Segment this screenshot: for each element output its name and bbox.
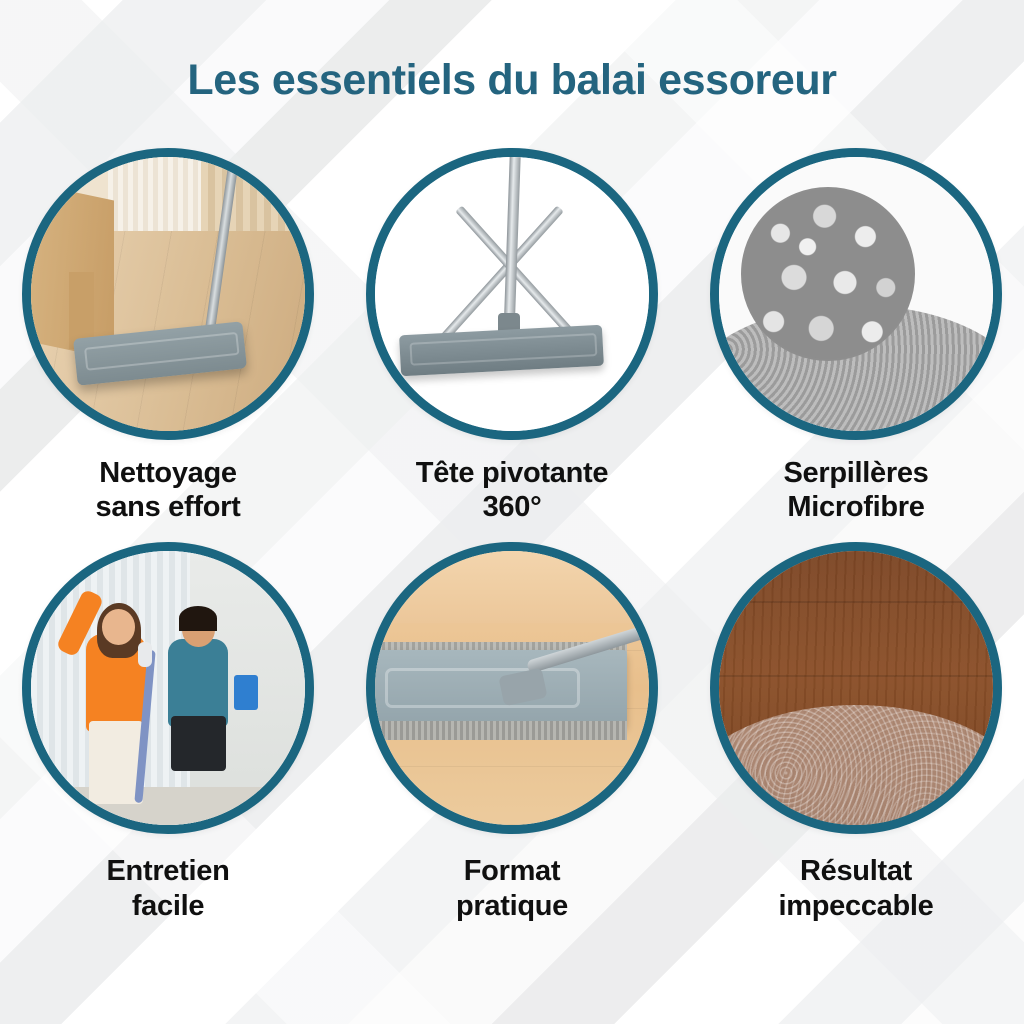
feature-caption-line2: Microfibre — [783, 490, 928, 524]
feature-caption: Serpillères Microfibre — [783, 456, 928, 524]
feature-row-bottom: Entretien facile Format — [0, 542, 1024, 922]
feature-caption-line1: Tête pivotante — [416, 456, 608, 490]
photo-flat-mop-on-oak-floor — [31, 157, 305, 431]
feature-caption-line1: Entretien — [107, 854, 230, 888]
feature-card-resultat-impeccable[interactable]: Résultat impeccable — [696, 542, 1016, 922]
feature-caption-line2: impeccable — [779, 889, 934, 923]
feature-card-tete-pivotante-360[interactable]: Tête pivotante 360° — [352, 148, 672, 524]
feature-image-circle — [22, 148, 314, 440]
feature-card-serpilleres-microfibre[interactable]: Serpillères Microfibre — [696, 148, 1016, 524]
infographic-page: Les essentiels du balai essoreur — [0, 0, 1024, 1024]
feature-caption-line1: Nettoyage — [96, 456, 241, 490]
feature-caption-line2: sans effort — [96, 490, 241, 524]
feature-image-circle — [22, 542, 314, 834]
feature-image-circle — [366, 542, 658, 834]
feature-card-nettoyage-sans-effort[interactable]: Nettoyage sans effort — [8, 148, 328, 524]
feature-caption: Résultat impeccable — [779, 854, 934, 922]
feature-caption-line2: pratique — [456, 889, 568, 923]
man-hair — [179, 606, 217, 631]
mop-pad — [399, 324, 604, 376]
feature-caption: Tête pivotante 360° — [416, 456, 608, 524]
room-floor — [31, 787, 305, 825]
photo-mop-head-top-view — [375, 551, 649, 825]
feature-caption: Format pratique — [456, 854, 568, 922]
feature-caption-line1: Serpillères — [783, 456, 928, 490]
man-torso-teal-shirt — [168, 639, 228, 727]
woman-head — [102, 609, 135, 645]
man-shorts — [171, 716, 226, 771]
feature-caption-line1: Résultat — [779, 854, 934, 888]
feature-image-circle — [710, 542, 1002, 834]
feature-card-entretien-facile[interactable]: Entretien facile — [8, 542, 328, 922]
maple-floor-upper-band — [375, 551, 649, 622]
spray-bottle — [234, 675, 259, 711]
dusty-floor-area — [719, 705, 993, 826]
mop-handle-center — [503, 157, 521, 332]
mop-pad-bottom-fringe — [375, 721, 627, 740]
photo-pivoting-mop-head — [375, 157, 649, 431]
photo-happy-couple-cleaning — [31, 551, 305, 825]
feature-card-format-pratique[interactable]: Format pratique — [352, 542, 672, 922]
feature-caption-line1: Format — [456, 854, 568, 888]
feature-image-circle — [366, 148, 658, 440]
feature-row-top: Nettoyage sans effort Tête pivotante — [0, 148, 1024, 524]
feature-grid: Nettoyage sans effort Tête pivotante — [0, 148, 1024, 923]
mop-grip — [138, 642, 152, 667]
photo-microfibre-macro — [719, 157, 993, 431]
microfibre-zoom-inset — [741, 187, 915, 361]
feature-caption-line2: facile — [107, 889, 230, 923]
feature-caption: Nettoyage sans effort — [96, 456, 241, 524]
page-title: Les essentiels du balai essoreur — [0, 56, 1024, 105]
feature-caption: Entretien facile — [107, 854, 230, 922]
feature-image-circle — [710, 148, 1002, 440]
feature-caption-line2: 360° — [416, 490, 608, 524]
photo-walnut-floor-clean-vs-dusty — [719, 551, 993, 825]
